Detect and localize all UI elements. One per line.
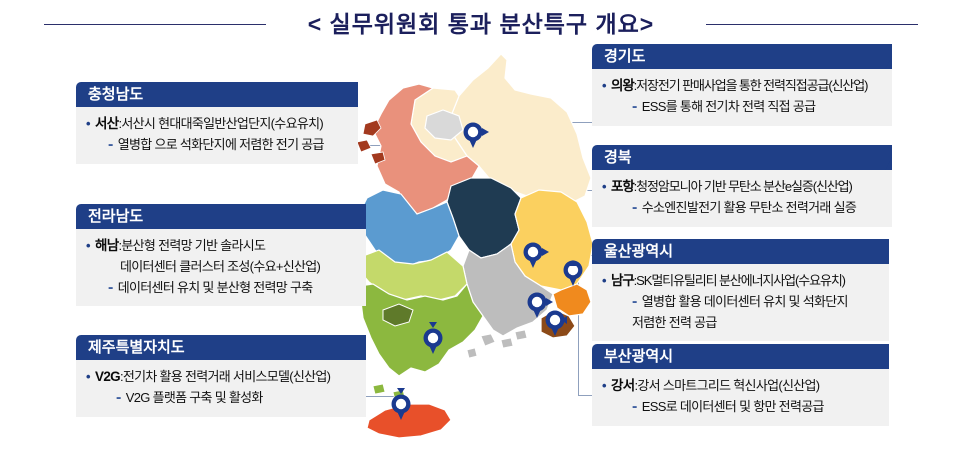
korea-map	[355, 38, 625, 448]
callout-body-jeju: • V2G:전기차 활용 전력거래 서비스모델(신산업) - V2G 플랫폼 구…	[76, 360, 366, 417]
dash-icon: -	[632, 398, 637, 415]
callout-body-chungnam: • 서산:서산시 현대대죽일반산업단지(수요유치) - 열병합 으로 석화단지에…	[76, 107, 358, 164]
callout-body-gyeongbuk: • 포항:청정암모니아 기반 무탄소 분산e실증(신산업) - 수소엔진발전기 …	[592, 170, 892, 227]
dash-icon: -	[632, 199, 637, 216]
callout-title-busan: 부산광역시	[604, 348, 673, 365]
pin-namgu[interactable]	[559, 260, 589, 290]
callout-jeonnam[interactable]: 전라남도 • 해남:분산형 전력망 기반 솔라시도 데이터센터 클러스터 조성(…	[76, 204, 366, 306]
callout-line: • 남구:SK멀티유틸리티 분산에너지사업(수요유치)	[602, 271, 881, 292]
callout-body-busan: • 강서:강서 스마트그리드 혁신사업(신산업) - ESS로 데이터센터 및 …	[592, 369, 889, 426]
callout-header-chungnam: 충청남도	[76, 82, 358, 107]
header-tab-shape	[875, 239, 889, 264]
callout-gyeonggi[interactable]: 경기도 • 의왕:저장전기 판매사업을 통한 전력직접공급(신산업) - ESS…	[592, 44, 892, 126]
dash-icon: -	[632, 293, 637, 310]
dash-icon: -	[108, 136, 113, 153]
line-text: 저장전기 판매사업을 통한 전력직접공급(신산업)	[636, 78, 867, 93]
line-text: 전기차 활용 전력거래 서비스모델(신산업)	[123, 369, 330, 384]
pin-gangseo[interactable]	[541, 310, 575, 336]
callout-line: - 수소엔진발전기 활용 무탄소 전력거래 실증	[602, 198, 884, 219]
callout-line: • 강서:강서 스마트그리드 혁신사업(신산업)	[602, 376, 881, 397]
callout-line: - V2G 플랫폼 구축 및 활성화	[86, 388, 358, 409]
line-text: V2G 플랫폼 구축 및 활성화	[126, 390, 263, 405]
callout-line: • 서산:서산시 현대대죽일반산업단지(수요유치)	[86, 114, 350, 135]
line-text: 강서 스마트그리드 혁신사업(신산업)	[637, 378, 819, 393]
callout-title-jeonnam: 전라남도	[88, 208, 143, 225]
pin-seosan[interactable]	[459, 122, 489, 148]
callout-line: 데이터센터 클러스터 조성(수요+신산업)	[86, 257, 358, 278]
line-text: ESS를 통해 전기차 전력 직접 공급	[642, 99, 816, 114]
line-text: 저렴한 전력 공급	[632, 315, 717, 330]
callout-line: 저렴한 전력 공급	[602, 313, 881, 334]
line-text: 열병합 활용 데이터센터 유치 및 석화단지	[642, 294, 848, 309]
callout-ulsan[interactable]: 울산광역시 • 남구:SK멀티유틸리티 분산에너지사업(수요유치) - 열병합 …	[592, 239, 889, 341]
callout-header-ulsan: 울산광역시	[592, 239, 889, 264]
header-tab-shape	[878, 44, 892, 69]
line-text: 분산형 전력망 기반 솔라시도	[121, 238, 265, 253]
callout-line: - 열병합 활용 데이터센터 유치 및 석화단지	[602, 292, 881, 313]
line-text: 열병합 으로 석화단지에 저렴한 전기 공급	[118, 137, 324, 152]
dash-icon: -	[116, 389, 121, 406]
callout-body-ulsan: • 남구:SK멀티유틸리티 분산에너지사업(수요유치) - 열병합 활용 데이터…	[592, 264, 889, 341]
dash-icon: -	[108, 279, 113, 296]
callout-line: • V2G:전기차 활용 전력거래 서비스모델(신산업)	[86, 367, 358, 388]
pin-uiwang[interactable]	[519, 242, 549, 268]
bullet-icon: •	[86, 369, 91, 384]
line-text: SK멀티유틸리티 분산에너지사업(수요유치)	[636, 273, 845, 288]
bullet-icon: •	[602, 78, 607, 93]
callout-line: - ESS를 통해 전기차 전력 직접 공급	[602, 97, 884, 118]
infographic-stage: < 실무위원회 통과 분산특구 개요>	[0, 0, 962, 465]
callout-line: - 데이터센터 유치 및 분산형 전력망 구축	[86, 278, 358, 299]
callout-gyeongbuk[interactable]: 경북 • 포항:청정암모니아 기반 무탄소 분산e실증(신산업) - 수소엔진발…	[592, 145, 892, 227]
region-name: V2G	[95, 369, 120, 384]
line-text: 데이터센터 유치 및 분산형 전력망 구축	[118, 280, 313, 295]
callout-title-gyeongbuk: 경북	[604, 149, 632, 166]
callout-body-jeonnam: • 해남:분산형 전력망 기반 솔라시도 데이터센터 클러스터 조성(수요+신산…	[76, 229, 366, 306]
region-name: 의왕	[611, 78, 634, 93]
bullet-icon: •	[86, 116, 91, 131]
region-name: 포항	[611, 179, 634, 194]
title-area: < 실무위원회 통과 분산특구 개요>	[0, 4, 962, 42]
pin-haenam[interactable]	[419, 320, 449, 354]
region-name: 해남	[95, 238, 118, 253]
callout-title-gyeonggi: 경기도	[604, 48, 645, 65]
header-tab-shape	[352, 335, 366, 360]
callout-header-gyeongbuk: 경북	[592, 145, 892, 170]
header-tab-shape	[344, 82, 358, 107]
callout-header-gyeonggi: 경기도	[592, 44, 892, 69]
line-text: 데이터센터 클러스터 조성(수요+신산업)	[120, 259, 320, 274]
callout-title-jeju: 제주특별자치도	[88, 339, 185, 356]
region-name: 강서	[611, 378, 634, 393]
callout-line: • 포항:청정암모니아 기반 무탄소 분산e실증(신산업)	[602, 177, 884, 198]
header-tab-shape	[352, 204, 366, 229]
line-text: 서산시 현대대죽일반산업단지(수요유치)	[121, 116, 323, 131]
callout-line: • 의왕:저장전기 판매사업을 통한 전력직접공급(신산업)	[602, 76, 884, 97]
callout-line: • 해남:분산형 전력망 기반 솔라시도	[86, 236, 358, 257]
bullet-icon: •	[602, 273, 607, 288]
pin-v2g[interactable]	[387, 386, 417, 420]
callout-title-chungnam: 충청남도	[88, 86, 143, 103]
dash-icon: -	[632, 98, 637, 115]
callout-header-jeonnam: 전라남도	[76, 204, 366, 229]
bullet-icon: •	[602, 179, 607, 194]
callout-line: - 열병합 으로 석화단지에 저렴한 전기 공급	[86, 135, 350, 156]
callout-title-ulsan: 울산광역시	[604, 243, 673, 260]
region-name: 남구	[611, 273, 634, 288]
callout-busan[interactable]: 부산광역시 • 강서:강서 스마트그리드 혁신사업(신산업) - ESS로 데이…	[592, 344, 889, 426]
callout-header-busan: 부산광역시	[592, 344, 889, 369]
callout-jeju[interactable]: 제주특별자치도 • V2G:전기차 활용 전력거래 서비스모델(신산업) - V…	[76, 335, 366, 417]
map-region-south-islands	[467, 330, 527, 358]
callout-line: - ESS로 데이터센터 및 항만 전력공급	[602, 397, 881, 418]
header-tab-shape	[875, 344, 889, 369]
callout-body-gyeonggi: • 의왕:저장전기 판매사업을 통한 전력직접공급(신산업) - ESS를 통해…	[592, 69, 892, 126]
header-tab-shape	[878, 145, 892, 170]
line-text: 수소엔진발전기 활용 무탄소 전력거래 실증	[642, 200, 856, 215]
callout-chungnam[interactable]: 충청남도 • 서산:서산시 현대대죽일반산업단지(수요유치) - 열병합 으로 …	[76, 82, 358, 164]
bullet-icon: •	[602, 378, 607, 393]
bullet-icon: •	[86, 238, 91, 253]
callout-header-jeju: 제주특별자치도	[76, 335, 366, 360]
region-name: 서산	[95, 116, 118, 131]
line-text: 청정암모니아 기반 무탄소 분산e실증(신산업)	[636, 179, 852, 194]
line-text: ESS로 데이터센터 및 항만 전력공급	[642, 399, 824, 414]
